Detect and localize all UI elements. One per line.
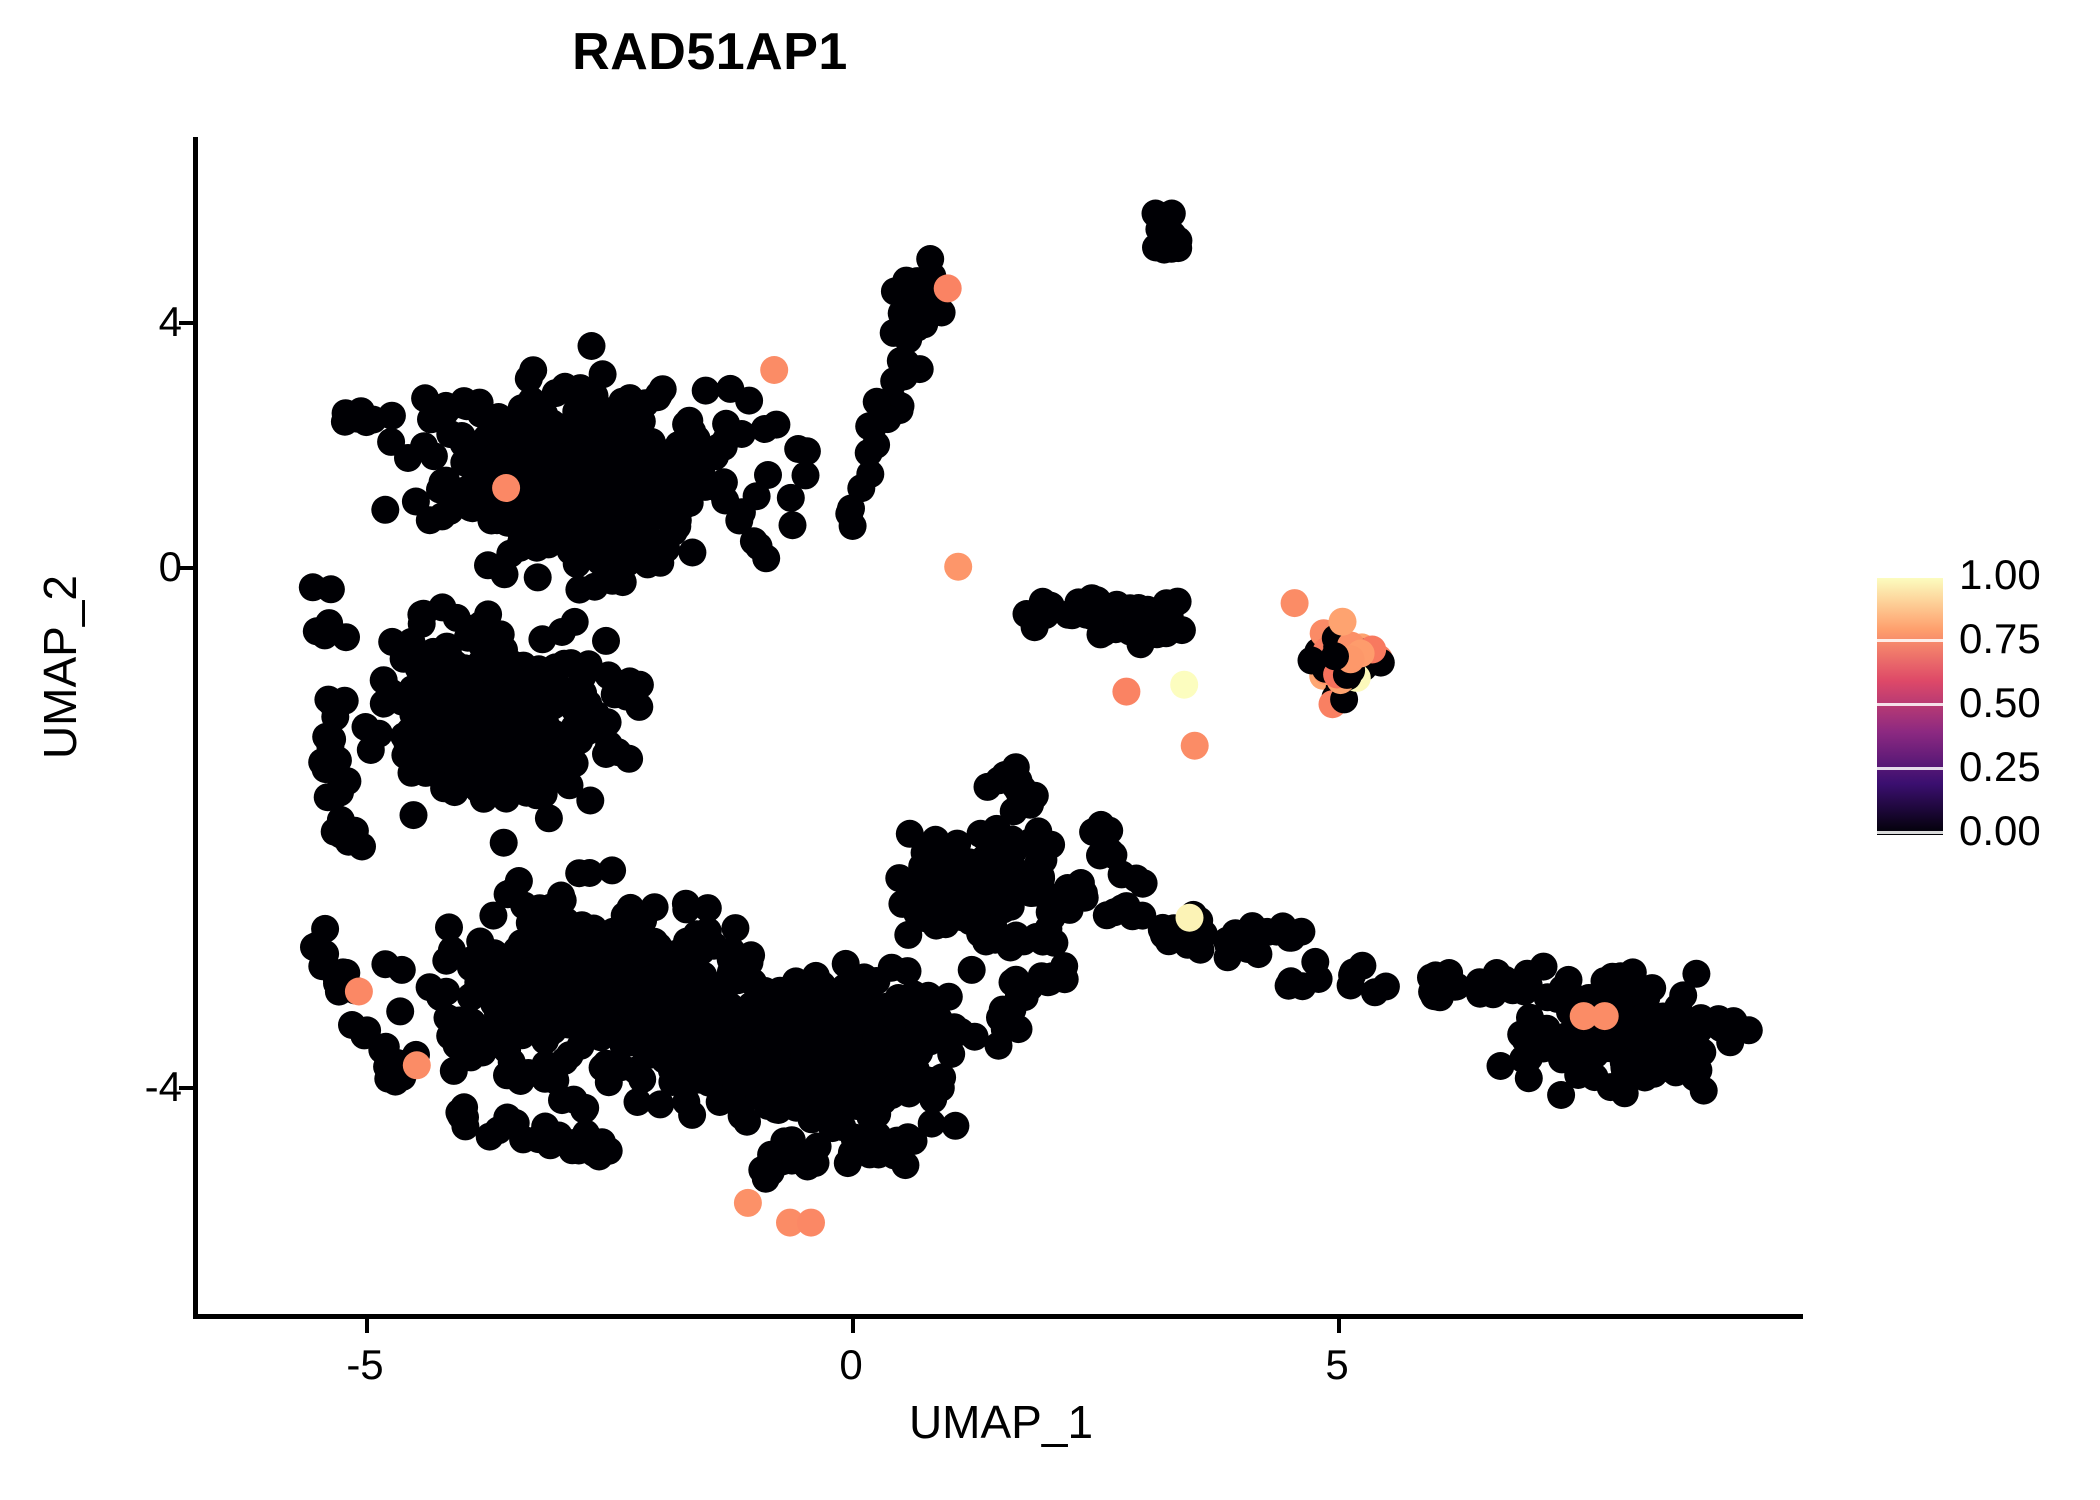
scatter-point	[1181, 732, 1209, 760]
scatter-point	[505, 867, 533, 895]
scatter-point	[370, 690, 398, 718]
scatter-point	[900, 1127, 928, 1155]
scatter-point	[658, 508, 686, 536]
scatter-point	[588, 1128, 616, 1156]
scatter-point	[1591, 1002, 1619, 1030]
scatter-point	[335, 828, 363, 856]
scatter-point	[748, 1156, 776, 1184]
scatter-point	[312, 755, 340, 783]
scatter-point	[1338, 961, 1366, 989]
scatter-point	[922, 826, 950, 854]
scatter-point	[528, 625, 556, 653]
scatter-point	[518, 387, 546, 415]
y-tick-label-0: 0	[159, 543, 182, 591]
colorbar-label-050: 0.50	[1959, 682, 2041, 724]
scatter-points-layer	[196, 136, 1836, 1316]
scatter-point	[519, 356, 547, 384]
scatter-point	[1078, 584, 1106, 612]
scatter-point	[634, 469, 662, 497]
scatter-point	[1099, 841, 1127, 869]
scatter-point	[1168, 616, 1196, 644]
scatter-point	[410, 432, 438, 460]
scatter-point	[378, 402, 406, 430]
scatter-point	[863, 388, 891, 416]
scatter-point	[771, 1133, 799, 1161]
scatter-point	[797, 1209, 825, 1237]
scatter-point	[632, 538, 660, 566]
plot-panel	[196, 136, 1836, 1316]
colorbar-tick-050	[1877, 703, 1943, 706]
scatter-point	[1716, 1028, 1744, 1056]
scatter-point	[843, 1092, 871, 1120]
scatter-point	[399, 675, 427, 703]
scatter-point	[1441, 973, 1469, 1001]
scatter-point	[878, 954, 906, 982]
scatter-point	[377, 428, 405, 456]
scatter-point	[403, 1051, 431, 1079]
scatter-point	[671, 441, 699, 469]
scatter-point	[678, 1101, 706, 1129]
scatter-point	[628, 1065, 656, 1093]
scatter-point	[724, 1037, 752, 1065]
scatter-point	[352, 408, 380, 436]
scatter-point	[457, 983, 485, 1011]
scatter-point	[1513, 960, 1541, 988]
scatter-point	[507, 1067, 535, 1095]
scatter-point	[338, 1011, 366, 1039]
scatter-point	[428, 593, 456, 621]
scatter-point	[584, 393, 612, 421]
scatter-point	[1214, 943, 1242, 971]
scatter-point	[1372, 973, 1400, 1001]
scatter-point	[705, 433, 733, 461]
scatter-point	[1591, 1035, 1619, 1063]
scatter-point	[426, 983, 454, 1011]
scatter-point	[727, 1069, 755, 1097]
scatter-point	[317, 575, 345, 603]
scatter-point	[1553, 1035, 1581, 1063]
scatter-point	[573, 718, 601, 746]
scatter-point	[718, 937, 746, 965]
scatter-point	[641, 893, 669, 921]
scatter-point	[788, 1071, 816, 1099]
scatter-point	[745, 532, 773, 560]
x-tick-mark-5	[1337, 1319, 1341, 1333]
scatter-point	[570, 1096, 598, 1124]
scatter-point	[432, 467, 460, 495]
scatter-point	[551, 505, 579, 533]
scatter-point	[461, 461, 489, 489]
scatter-point	[692, 377, 720, 405]
x-tick-label-0: 0	[771, 1341, 931, 1389]
scatter-point	[311, 915, 339, 943]
scatter-point	[645, 983, 673, 1011]
scatter-point	[835, 500, 863, 528]
scatter-point	[561, 608, 589, 636]
scatter-point	[1479, 980, 1507, 1008]
scatter-point	[672, 895, 700, 923]
scatter-point	[1005, 777, 1033, 805]
scatter-point	[535, 1020, 563, 1048]
scatter-point	[445, 1007, 473, 1035]
scatter-point	[485, 448, 513, 476]
scatter-point	[388, 956, 416, 984]
scatter-point	[400, 801, 428, 829]
scatter-point	[601, 680, 629, 708]
scatter-point	[507, 528, 535, 556]
scatter-point	[885, 864, 913, 892]
scatter-point	[474, 600, 502, 628]
scatter-point	[479, 953, 507, 981]
scatter-point	[675, 407, 703, 435]
scatter-point	[1598, 963, 1626, 991]
scatter-point	[960, 886, 988, 914]
scatter-point	[630, 503, 658, 531]
scatter-point	[1016, 974, 1044, 1002]
scatter-point	[352, 713, 380, 741]
scatter-point	[510, 892, 538, 920]
scatter-point	[491, 560, 519, 588]
colorbar-gradient	[1877, 578, 1943, 835]
y-axis-line	[193, 137, 198, 1319]
scatter-point	[1150, 217, 1178, 245]
scatter-point	[498, 1023, 526, 1051]
scatter-point	[437, 656, 465, 684]
scatter-point	[743, 482, 771, 510]
scatter-point	[760, 356, 788, 384]
color-legend: 1.00 0.75 0.50 0.25 0.00	[1877, 578, 2077, 898]
scatter-point	[1640, 1060, 1668, 1088]
scatter-point	[1130, 869, 1158, 897]
scatter-point	[903, 314, 931, 342]
scatter-point	[604, 520, 632, 548]
scatter-point	[958, 956, 986, 984]
x-axis-line	[193, 1314, 1803, 1319]
scatter-point	[585, 976, 613, 1004]
colorbar-tick-000	[1877, 831, 1943, 834]
scatter-point	[1624, 1025, 1652, 1053]
scatter-point	[451, 1112, 479, 1140]
scatter-point	[751, 1023, 779, 1051]
scatter-point	[549, 886, 577, 914]
scatter-point	[914, 982, 942, 1010]
scatter-point	[1149, 914, 1177, 942]
scatter-point	[1275, 972, 1303, 1000]
colorbar-tick-075	[1877, 639, 1943, 642]
scatter-point	[710, 468, 738, 496]
colorbar-label-075: 0.75	[1959, 618, 2041, 660]
x-tick-label-neg5: -5	[285, 1341, 445, 1389]
scatter-point	[565, 1005, 593, 1033]
scatter-point	[576, 787, 604, 815]
scatter-point	[983, 815, 1011, 843]
scatter-point	[1329, 608, 1357, 636]
scatter-point	[1281, 589, 1309, 617]
scatter-point	[490, 829, 518, 857]
scatter-point	[378, 628, 406, 656]
scatter-point	[398, 759, 426, 787]
colorbar-label-100: 1.00	[1959, 554, 2041, 596]
scatter-point	[714, 1002, 742, 1030]
colorbar-label-000: 0.00	[1959, 810, 2041, 852]
scatter-point	[556, 1041, 584, 1069]
scatter-point	[615, 745, 643, 773]
scatter-point	[807, 1029, 835, 1057]
scatter-point	[1684, 1056, 1712, 1084]
scatter-point	[565, 859, 593, 887]
scatter-point	[779, 511, 807, 539]
scatter-point	[372, 1033, 400, 1061]
scatter-point	[534, 440, 562, 468]
scatter-point	[1221, 919, 1249, 947]
scatter-point	[627, 939, 655, 967]
scatter-point	[371, 496, 399, 524]
scatter-point	[592, 627, 620, 655]
scatter-point	[967, 858, 995, 886]
scatter-point	[865, 1141, 893, 1169]
scatter-point	[437, 684, 465, 712]
x-axis-title: UMAP_1	[196, 1395, 1806, 1449]
scatter-point	[777, 484, 805, 512]
scatter-point	[1123, 611, 1151, 639]
scatter-point	[492, 474, 520, 502]
colorbar-tick-025	[1877, 767, 1943, 770]
scatter-point	[453, 392, 481, 420]
scatter-point	[646, 1090, 674, 1118]
scatter-point	[312, 723, 340, 751]
scatter-point	[599, 446, 627, 474]
scatter-point	[524, 474, 552, 502]
scatter-point	[944, 553, 972, 581]
scatter-point	[548, 416, 576, 444]
scatter-point	[625, 693, 653, 721]
scatter-point	[920, 889, 948, 917]
scatter-point	[535, 804, 563, 832]
scatter-point	[524, 563, 552, 591]
scatter-point	[578, 332, 606, 360]
scatter-point	[401, 723, 429, 751]
scatter-point	[544, 923, 572, 951]
scatter-point	[880, 319, 908, 347]
scatter-point	[1176, 904, 1204, 932]
scatter-point	[934, 274, 962, 302]
scatter-point	[862, 431, 890, 459]
scatter-point	[647, 1034, 675, 1062]
y-tick-label-neg4: -4	[145, 1063, 182, 1111]
scatter-point	[1253, 918, 1281, 946]
scatter-point	[794, 1153, 822, 1181]
x-tick-mark-neg5	[365, 1319, 369, 1333]
scatter-point	[1067, 869, 1095, 897]
scatter-point	[1515, 1064, 1543, 1092]
scatter-point	[1487, 1052, 1515, 1080]
scatter-point	[461, 711, 489, 739]
y-tick-label-4: 4	[159, 298, 182, 346]
scatter-point	[1095, 817, 1123, 845]
scatter-point	[927, 1022, 955, 1050]
scatter-point	[386, 997, 414, 1025]
scatter-point	[551, 373, 579, 401]
scatter-point	[459, 494, 487, 522]
scatter-point	[483, 499, 511, 527]
scatter-point	[318, 689, 346, 717]
scatter-point	[734, 1189, 762, 1217]
scatter-point	[560, 441, 588, 469]
scatter-point	[941, 1112, 969, 1140]
scatter-point	[751, 415, 779, 443]
scatter-point	[1682, 960, 1710, 988]
scatter-point	[540, 745, 568, 773]
scatter-point	[725, 507, 753, 535]
scatter-point	[989, 996, 1017, 1024]
scatter-point	[706, 1088, 734, 1116]
scatter-point	[536, 1131, 564, 1159]
scatter-point	[996, 934, 1024, 962]
scatter-point	[716, 375, 744, 403]
scatter-point	[547, 675, 575, 703]
page-title: RAD51AP1	[0, 22, 1420, 82]
scatter-point	[551, 471, 579, 499]
x-tick-mark-0	[851, 1319, 855, 1333]
scatter-point	[838, 1139, 866, 1167]
scatter-point	[678, 539, 706, 567]
y-axis-title: UMAP_2	[33, 387, 87, 947]
scatter-point	[457, 1043, 485, 1071]
x-tick-label-5: 5	[1257, 1341, 1417, 1389]
scatter-point	[493, 1104, 521, 1132]
scatter-point	[961, 1023, 989, 1051]
scatter-point	[416, 506, 444, 534]
scatter-point	[547, 982, 575, 1010]
scatter-point	[1024, 817, 1052, 845]
scatter-point	[467, 749, 495, 777]
scatter-point	[887, 347, 915, 375]
scatter-point	[839, 984, 867, 1012]
scatter-point	[1170, 671, 1198, 699]
scatter-point	[1305, 965, 1333, 993]
scatter-point	[1287, 918, 1315, 946]
scatter-point	[631, 389, 659, 417]
scatter-point	[589, 1054, 617, 1082]
scatter-point	[345, 978, 373, 1006]
scatter-point	[597, 1013, 625, 1041]
scatter-point	[532, 1050, 560, 1078]
scatter-point	[1032, 601, 1060, 629]
scatter-point	[974, 773, 1002, 801]
scatter-point	[563, 550, 591, 578]
scatter-point	[724, 966, 752, 994]
scatter-point	[1321, 642, 1349, 670]
scatter-point	[878, 1081, 906, 1109]
scatter-point	[793, 437, 821, 465]
scatter-point	[1112, 678, 1140, 706]
umap-feature-plot: RAD51AP1 4 0 -4 -5 0 5 UMAP_2 UMAP_1 1.0…	[0, 0, 2100, 1500]
scatter-point	[856, 460, 884, 488]
colorbar-label-025: 0.25	[1959, 746, 2041, 788]
scatter-point	[332, 623, 360, 651]
scatter-point	[581, 573, 609, 601]
